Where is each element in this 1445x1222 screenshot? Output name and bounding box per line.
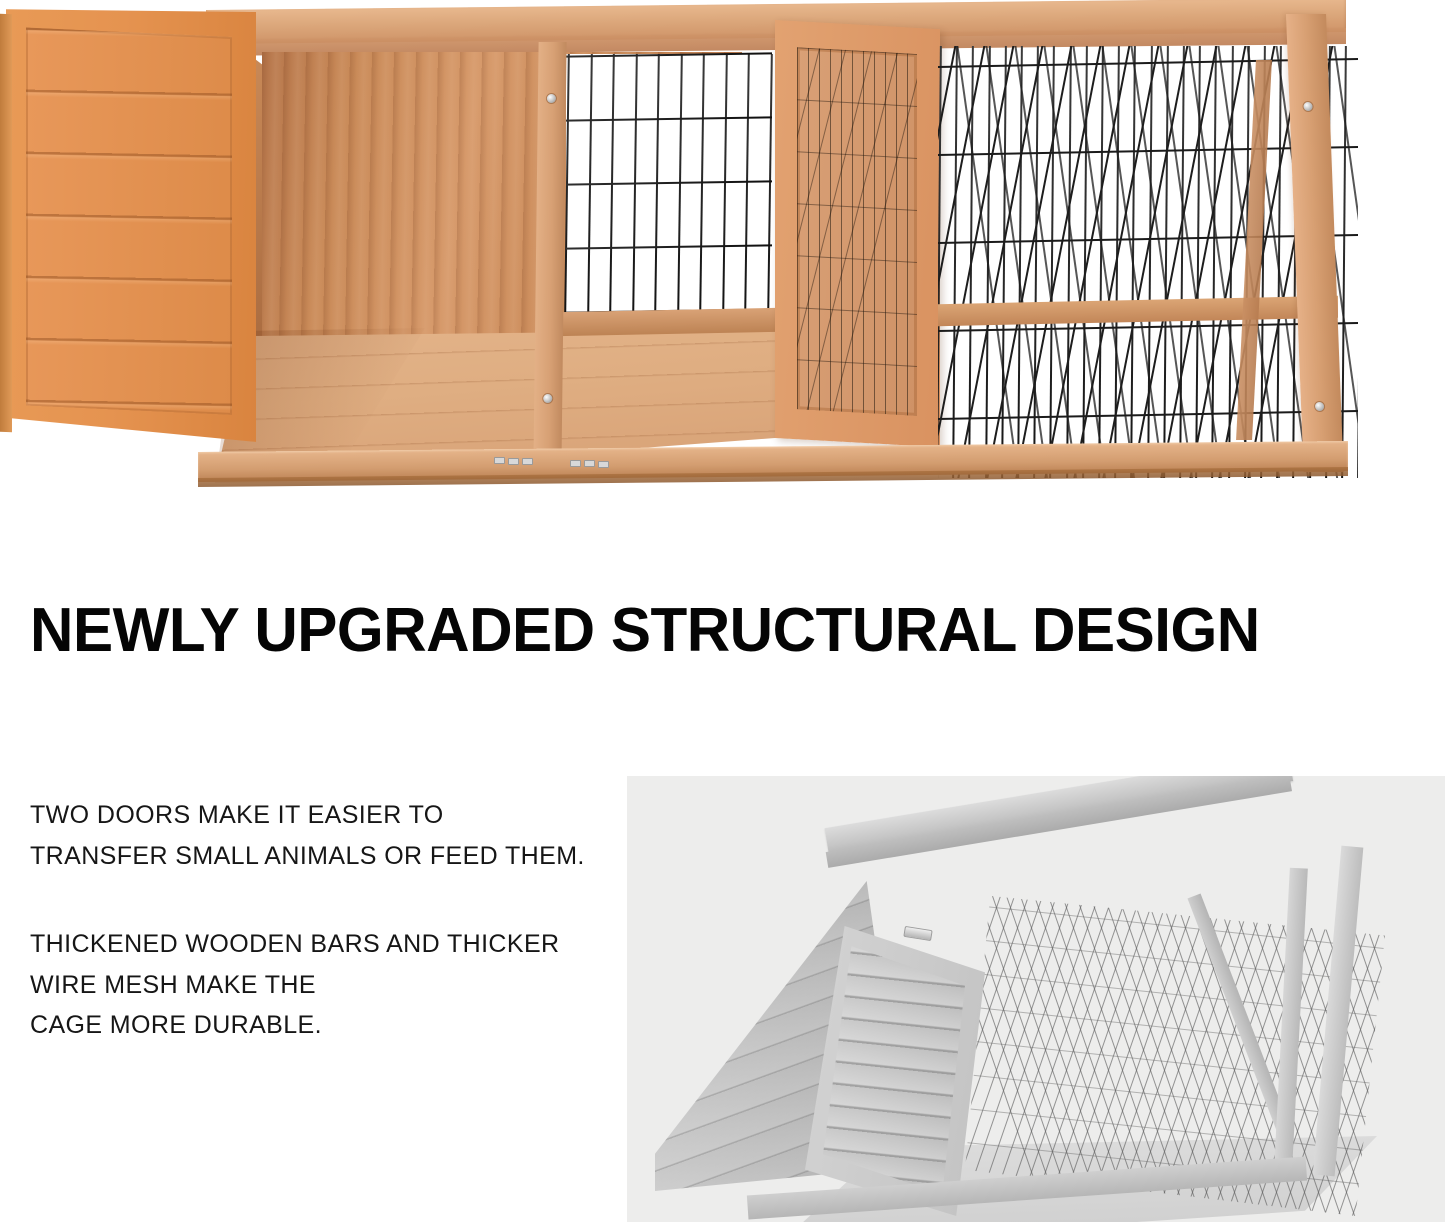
mesh-wire-vertical (808, 48, 809, 410)
hero-product-photo (0, 0, 1445, 500)
mesh-wire-vertical (907, 53, 908, 415)
wire-mesh-window (566, 54, 772, 316)
grey-hutch-door-latch (903, 926, 932, 941)
hinge-icon (570, 460, 581, 467)
mesh-wire-vertical (1001, 46, 1007, 478)
mesh-wire-vertical (722, 54, 728, 316)
feature-line: TRANSFER SMALL ANIMALS OR FEED THEM. (30, 836, 620, 877)
hutch-divider-post (533, 42, 566, 470)
mesh-wire-vertical (609, 54, 615, 316)
door-slat-panel (26, 28, 232, 415)
mesh-wire-vertical (874, 52, 875, 414)
mesh-wire-horizontal (566, 116, 772, 121)
mesh-wire-horizontal (797, 47, 917, 55)
hinge-icon (598, 461, 609, 468)
mesh-wire-horizontal (566, 180, 772, 185)
feature-line: TWO DOORS MAKE IT EASIER TO (30, 795, 620, 836)
mesh-wire-horizontal (566, 244, 772, 249)
mesh-wire-diagonal (938, 46, 1026, 478)
feature-copy-block: TWO DOORS MAKE IT EASIER TO TRANSFER SMA… (30, 795, 620, 1046)
screw-icon (547, 94, 556, 103)
screw-icon (1303, 102, 1312, 111)
mesh-wire-vertical (885, 52, 886, 414)
feature-line: THICKENED WOODEN BARS AND THICKER (30, 924, 620, 965)
mesh-wire-horizontal (797, 359, 917, 367)
page-headline: NEWLY UPGRADED STRUCTURAL DESIGN (30, 600, 1378, 662)
mesh-wire-horizontal (566, 52, 772, 57)
mesh-wire-vertical (632, 54, 638, 316)
mesh-wire-vertical (841, 50, 842, 412)
screw-icon (543, 394, 552, 403)
mesh-door-pane (797, 47, 917, 416)
feature-line: CAGE MORE DURABLE. (30, 1005, 620, 1046)
hutch-mid-rail (560, 308, 775, 336)
slatted-wooden-door-open (6, 1, 256, 442)
mesh-wire-vertical (767, 54, 773, 316)
feature-two-doors: TWO DOORS MAKE IT EASIER TO TRANSFER SMA… (30, 795, 620, 876)
mesh-wire-horizontal (797, 411, 917, 416)
hinge-icon (494, 457, 505, 464)
grey-product-photo (627, 776, 1445, 1222)
hinge-icon (584, 460, 595, 467)
door-hinge-edge (0, 14, 12, 433)
mesh-wire-vertical (1017, 46, 1023, 478)
mesh-wire-vertical (797, 47, 798, 409)
mesh-wire-horizontal (797, 255, 917, 263)
mesh-wire-vertical (896, 53, 897, 415)
wire-mesh-door-open (775, 20, 940, 447)
mesh-wire-vertical (677, 54, 683, 316)
mesh-wire-vertical (863, 51, 864, 413)
grey-hutch-illustration (627, 776, 1445, 1222)
mesh-wire-vertical (654, 54, 660, 316)
feature-line: WIRE MESH MAKE THE (30, 965, 620, 1006)
mesh-wire-vertical (744, 54, 750, 316)
hinge-icon (508, 458, 519, 465)
hinge-icon (522, 458, 533, 465)
feature-durable-build: THICKENED WOODEN BARS AND THICKER WIRE M… (30, 924, 620, 1046)
mesh-wire-vertical (952, 46, 958, 478)
screw-icon (1315, 402, 1324, 411)
mesh-wire-vertical (699, 54, 705, 316)
